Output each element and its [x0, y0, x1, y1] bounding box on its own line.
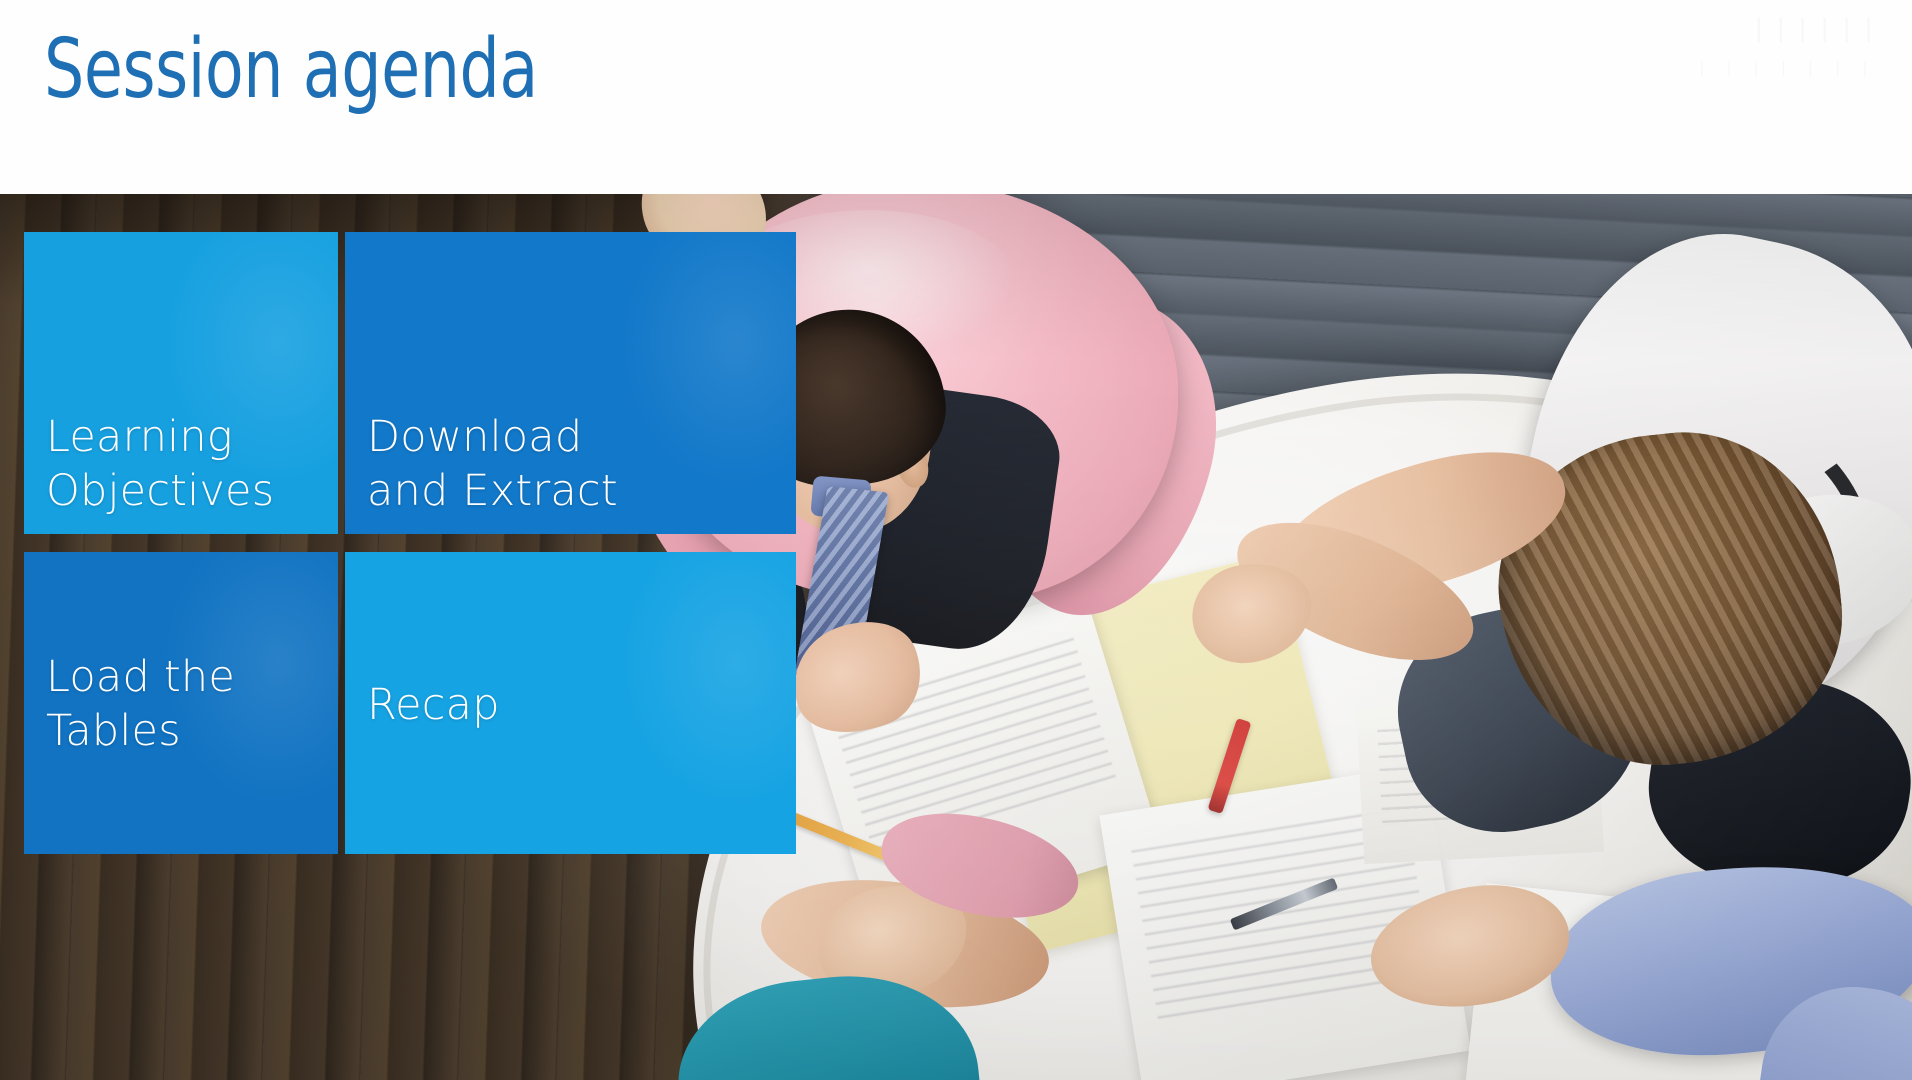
person-seated-right: [1380, 248, 1912, 868]
tile-label: Learning Objectives: [46, 410, 324, 518]
agenda-tile-load-the-tables[interactable]: Load the Tables: [24, 552, 338, 854]
watermark-line-2: | | | | | | |: [1356, 48, 1876, 88]
tile-label: Load the Tables: [46, 650, 324, 758]
tile-label: Recap: [367, 678, 782, 732]
slide-canvas: Learning Objectives Download and Extract…: [0, 0, 1912, 1080]
agenda-tile-grid: Learning Objectives Download and Extract…: [24, 232, 796, 856]
page-title: Session agenda: [44, 22, 538, 118]
slide-header: Session agenda | | | | | | | | | | | | |: [0, 0, 1912, 194]
agenda-tile-recap[interactable]: Recap: [345, 552, 796, 854]
tile-label: Download and Extract: [367, 410, 782, 518]
faint-watermark: | | | | | | | | | | | | |: [1356, 8, 1876, 138]
agenda-tile-learning-objectives[interactable]: Learning Objectives: [24, 232, 338, 534]
person-blue-shirt: [1430, 798, 1912, 1080]
agenda-tile-download-and-extract[interactable]: Download and Extract: [345, 232, 796, 534]
watermark-line-1: | | | | | |: [1356, 8, 1876, 48]
